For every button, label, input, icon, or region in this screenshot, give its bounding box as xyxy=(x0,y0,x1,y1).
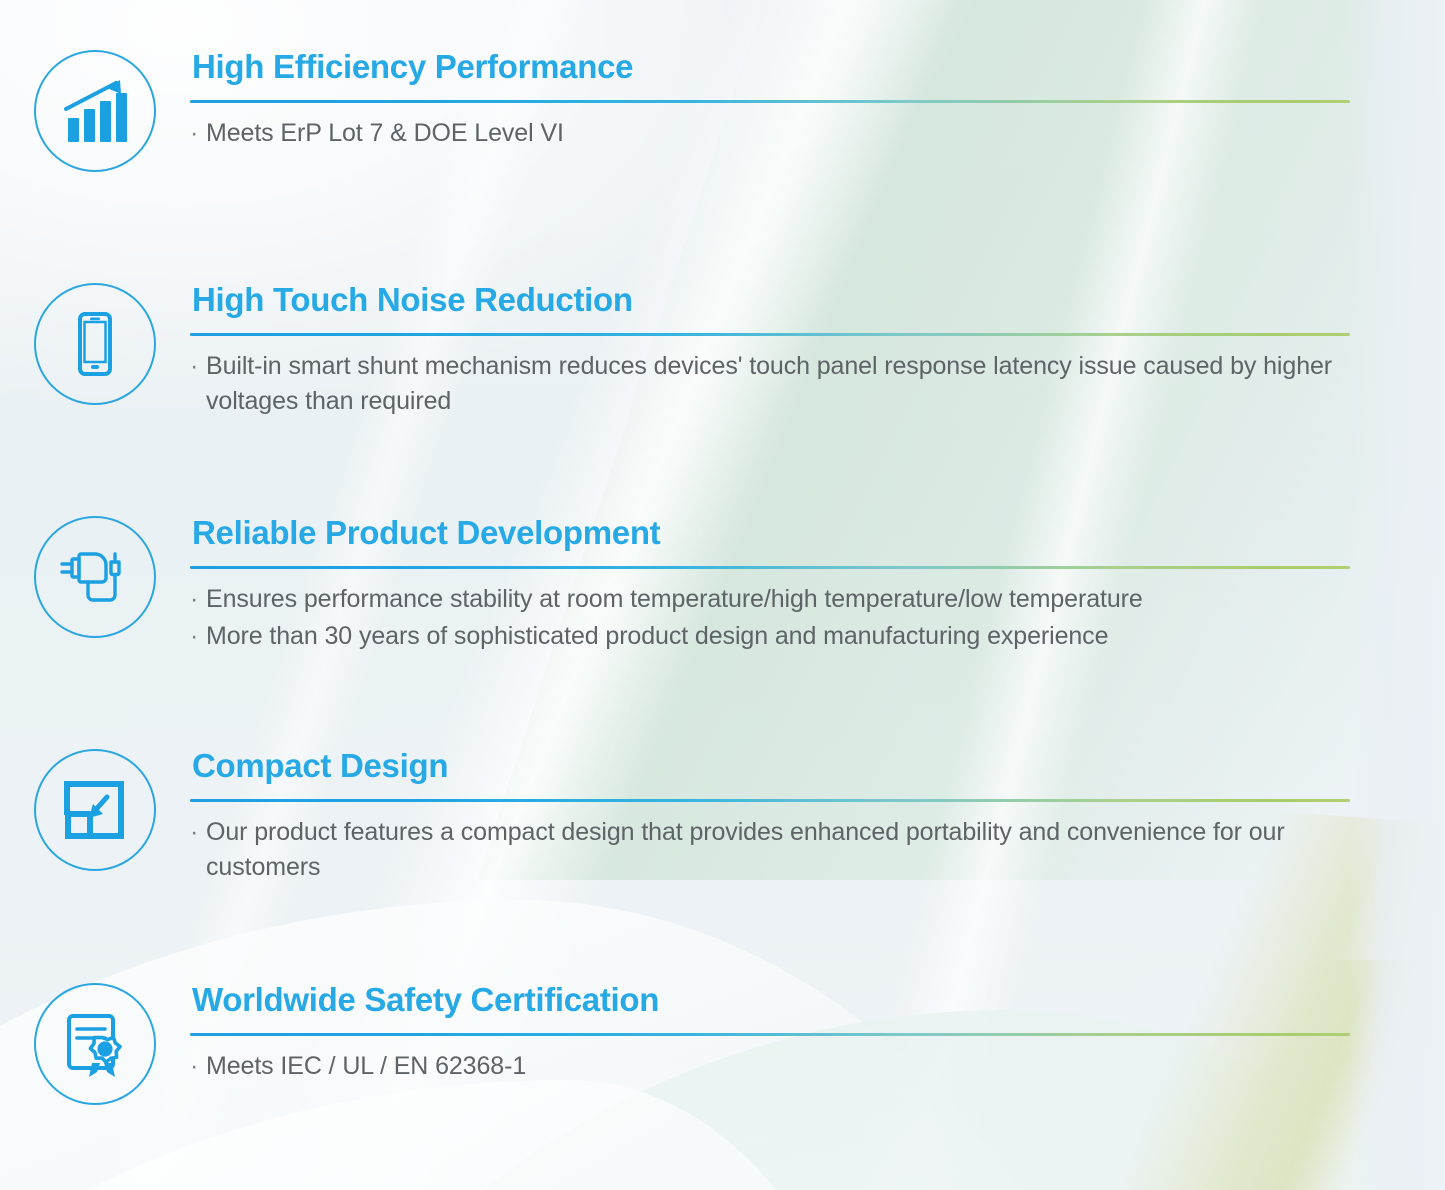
feature-body: Reliable Product Development · Ensures p… xyxy=(190,514,1445,655)
bullet-item: · Our product features a compact design … xyxy=(190,815,1373,886)
feature-list-page: High Efficiency Performance · Meets ErP … xyxy=(0,0,1445,1190)
bullet-marker: · xyxy=(190,619,206,655)
feature-icon-container xyxy=(0,747,190,871)
feature-list: High Efficiency Performance · Meets ErP … xyxy=(0,0,1445,1190)
feature-title: Reliable Product Development xyxy=(192,514,1373,552)
feature-divider xyxy=(190,333,1350,336)
feature-divider xyxy=(190,799,1350,802)
smartphone-icon xyxy=(34,283,156,405)
feature-bullets: · Ensures performance stability at room … xyxy=(190,582,1373,655)
feature-title: Worldwide Safety Certification xyxy=(192,981,1373,1019)
bullet-marker: · xyxy=(190,349,206,420)
bullet-text: Ensures performance stability at room te… xyxy=(206,582,1373,618)
feature-icon-container xyxy=(0,514,190,638)
feature-body: Compact Design · Our product features a … xyxy=(190,747,1445,886)
feature-icon-container xyxy=(0,981,190,1105)
feature-item: Compact Design · Our product features a … xyxy=(0,747,1445,886)
bullet-item: · Meets IEC / UL / EN 62368-1 xyxy=(190,1049,1373,1085)
feature-bullets: · Meets ErP Lot 7 & DOE Level VI xyxy=(190,116,1373,152)
bullet-marker: · xyxy=(190,815,206,886)
bullet-item: · Meets ErP Lot 7 & DOE Level VI xyxy=(190,116,1373,152)
feature-item: Reliable Product Development · Ensures p… xyxy=(0,514,1445,655)
bullet-item: · Built-in smart shunt mechanism reduces… xyxy=(190,349,1373,420)
bar-chart-growth-icon xyxy=(34,50,156,172)
bullet-text: More than 30 years of sophisticated prod… xyxy=(206,619,1373,655)
feature-title: High Efficiency Performance xyxy=(192,48,1373,86)
feature-icon-container xyxy=(0,281,190,405)
feature-body: Worldwide Safety Certification · Meets I… xyxy=(190,981,1445,1084)
bullet-item: · More than 30 years of sophisticated pr… xyxy=(190,619,1373,655)
feature-body: High Touch Noise Reduction · Built-in sm… xyxy=(190,281,1445,420)
feature-bullets: · Built-in smart shunt mechanism reduces… xyxy=(190,349,1373,420)
feature-item: Worldwide Safety Certification · Meets I… xyxy=(0,981,1445,1105)
feature-divider xyxy=(190,566,1350,569)
feature-bullets: · Meets IEC / UL / EN 62368-1 xyxy=(190,1049,1373,1085)
bullet-marker: · xyxy=(190,1049,206,1085)
feature-title: High Touch Noise Reduction xyxy=(192,281,1373,319)
feature-item: High Touch Noise Reduction · Built-in sm… xyxy=(0,281,1445,420)
feature-icon-container xyxy=(0,48,190,172)
feature-item: High Efficiency Performance · Meets ErP … xyxy=(0,48,1445,172)
certificate-award-icon xyxy=(34,983,156,1105)
compact-resize-icon xyxy=(34,749,156,871)
bullet-item: · Ensures performance stability at room … xyxy=(190,582,1373,618)
power-adapter-icon xyxy=(34,516,156,638)
feature-divider xyxy=(190,1033,1350,1036)
feature-title: Compact Design xyxy=(192,747,1373,785)
bullet-text: Our product features a compact design th… xyxy=(206,815,1373,886)
feature-divider xyxy=(190,100,1350,103)
bullet-text: Built-in smart shunt mechanism reduces d… xyxy=(206,349,1373,420)
bullet-marker: · xyxy=(190,582,206,618)
feature-body: High Efficiency Performance · Meets ErP … xyxy=(190,48,1445,151)
feature-bullets: · Our product features a compact design … xyxy=(190,815,1373,886)
bullet-marker: · xyxy=(190,116,206,152)
bullet-text: Meets ErP Lot 7 & DOE Level VI xyxy=(206,116,1373,152)
bullet-text: Meets IEC / UL / EN 62368-1 xyxy=(206,1049,1373,1085)
